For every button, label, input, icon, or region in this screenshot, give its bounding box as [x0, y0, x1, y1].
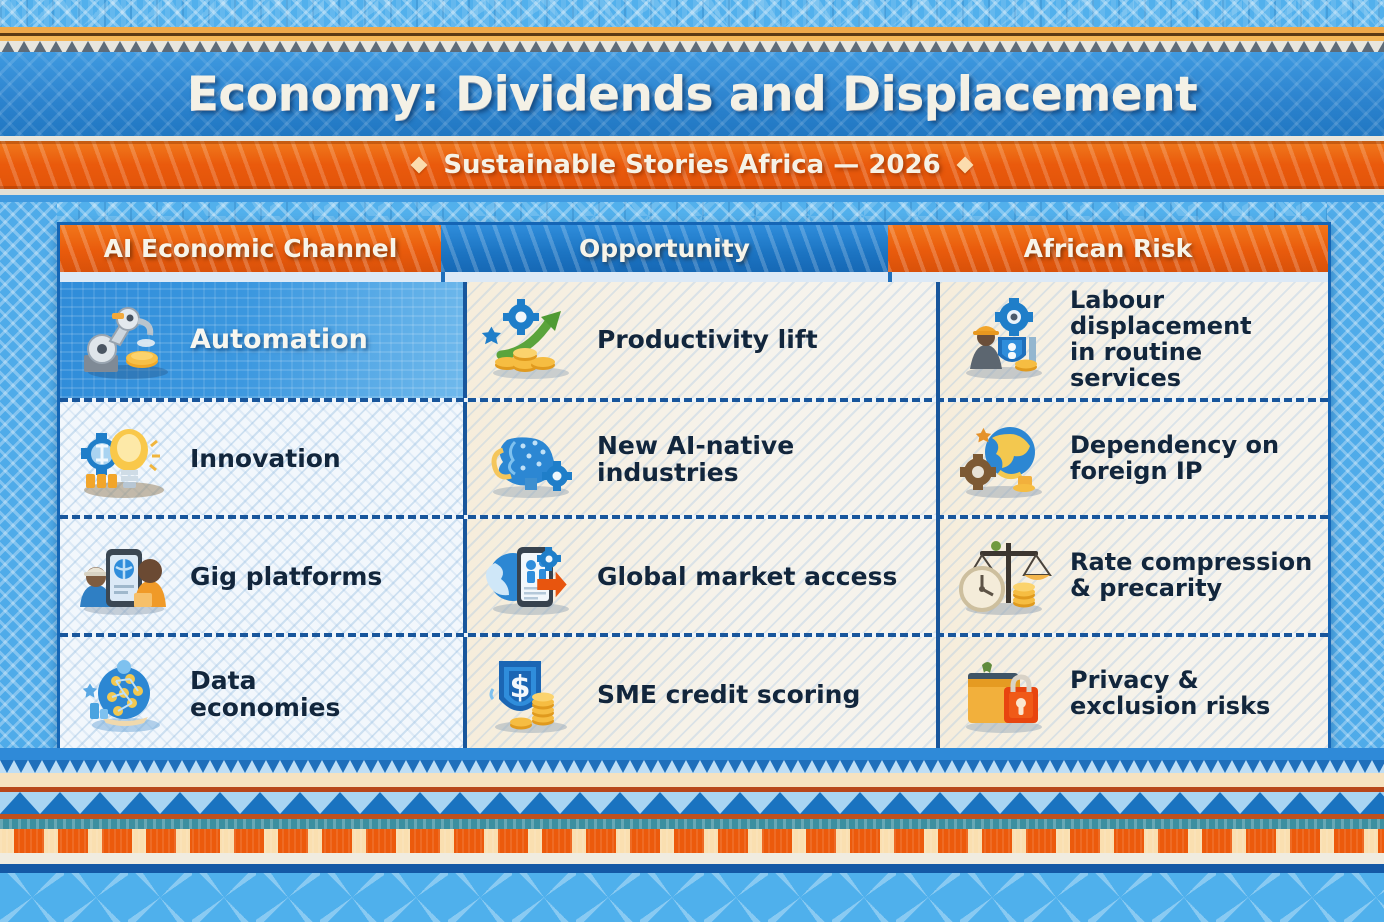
comparison-table: AI Economic Channel Opportunity African …: [57, 222, 1331, 754]
column-header-ai-economic-channel: AI Economic Channel: [60, 225, 441, 272]
cell-label: Productivity lift: [597, 325, 818, 354]
table-row: Data economies $: [60, 633, 1328, 751]
bottom-band-diamond-pattern: [0, 873, 1384, 922]
cell-label: Gig platforms: [190, 562, 382, 591]
bottom-band-navy: [0, 864, 1384, 873]
worker-gear-shield-icon: [952, 297, 1060, 383]
slide-canvas: Economy: Dividends and Displacement Sust…: [0, 0, 1384, 922]
header-spacer: [60, 272, 1328, 282]
robot-arm-icon: [72, 297, 180, 383]
bottom-band-cream-1: [0, 773, 1384, 787]
column-header-african-risk: African Risk: [888, 225, 1328, 272]
cell-channel[interactable]: Data economies: [60, 637, 463, 751]
bottom-band-teal: [0, 819, 1384, 829]
subtitle-banner: Sustainable Stories Africa — 2026: [0, 141, 1384, 189]
column-header-label: AI Economic Channel: [104, 234, 398, 263]
diamond-ornament-left: [411, 157, 428, 174]
cell-opportunity[interactable]: Global market access: [463, 519, 936, 633]
cell-channel[interactable]: Innovation: [60, 402, 463, 516]
title-banner: Economy: Dividends and Displacement: [0, 52, 1384, 136]
cell-label: Automation: [190, 324, 368, 355]
cell-label: Privacy & exclusion risks: [1070, 666, 1270, 720]
bottom-band-orange-dashes: [0, 829, 1384, 853]
column-header-label: African Risk: [1024, 234, 1193, 263]
brain-gear-icon: [479, 416, 587, 502]
left-border-cloth: [0, 202, 57, 748]
table-row: Innovation: [60, 398, 1328, 516]
column-header-opportunity: Opportunity: [441, 225, 888, 272]
scales-clock-coins-icon: [952, 533, 1060, 619]
cell-label: Global market access: [597, 562, 897, 591]
cell-opportunity[interactable]: Productivity lift: [463, 282, 936, 398]
table-row: Gig platforms: [60, 515, 1328, 633]
cell-channel[interactable]: Gig platforms: [60, 519, 463, 633]
cell-risk[interactable]: Rate compression & precarity: [936, 519, 1328, 633]
subtitle-blue-underline: [0, 195, 1384, 202]
cell-risk[interactable]: Dependency on foreign IP: [936, 402, 1328, 516]
cell-label: Labour displacement in routine services: [1070, 286, 1252, 392]
cell-label: New AI-native industries: [597, 431, 794, 487]
smartphone-globe-arrow-icon: [479, 533, 587, 619]
lightbulb-globe-gear-icon: [72, 416, 180, 502]
cell-label: Dependency on foreign IP: [1070, 431, 1279, 485]
shield-dollar-coins-icon: $: [479, 651, 587, 737]
cell-label: Data economies: [190, 666, 340, 722]
table-body: Automation: [60, 282, 1328, 751]
globe-gear-icon: [952, 416, 1060, 502]
cell-label: Rate compression & precarity: [1070, 548, 1312, 602]
bottom-band-triangles: [0, 792, 1384, 814]
cell-label: Innovation: [190, 444, 341, 473]
people-smartphone-icon: [72, 533, 180, 619]
cell-opportunity[interactable]: New AI-native industries: [463, 402, 936, 516]
subtitle-text: Sustainable Stories Africa — 2026: [443, 150, 940, 180]
cell-label: SME credit scoring: [597, 680, 860, 709]
page-title: Economy: Dividends and Displacement: [187, 67, 1197, 122]
cell-opportunity[interactable]: $: [463, 637, 936, 751]
data-globe-icon: [72, 651, 180, 737]
gear-growth-arrow-coins-icon: [479, 297, 587, 383]
bottom-band-blue: [0, 748, 1384, 760]
cell-risk[interactable]: Labour displacement in routine services: [936, 282, 1328, 398]
bottom-band-cream-2: [0, 853, 1384, 864]
column-header-label: Opportunity: [579, 234, 750, 263]
cell-channel[interactable]: Automation: [60, 282, 463, 398]
folder-padlock-icon: [952, 651, 1060, 737]
svg-text:$: $: [510, 670, 531, 705]
table-header-row: AI Economic Channel Opportunity African …: [60, 225, 1328, 272]
right-border-cloth: [1327, 202, 1384, 748]
table-row: Automation: [60, 282, 1328, 398]
top-band-blue: [0, 0, 1384, 27]
bottom-band-zigzag: [0, 760, 1384, 773]
diamond-ornament-right: [956, 157, 973, 174]
cell-risk[interactable]: Privacy & exclusion risks: [936, 637, 1328, 751]
